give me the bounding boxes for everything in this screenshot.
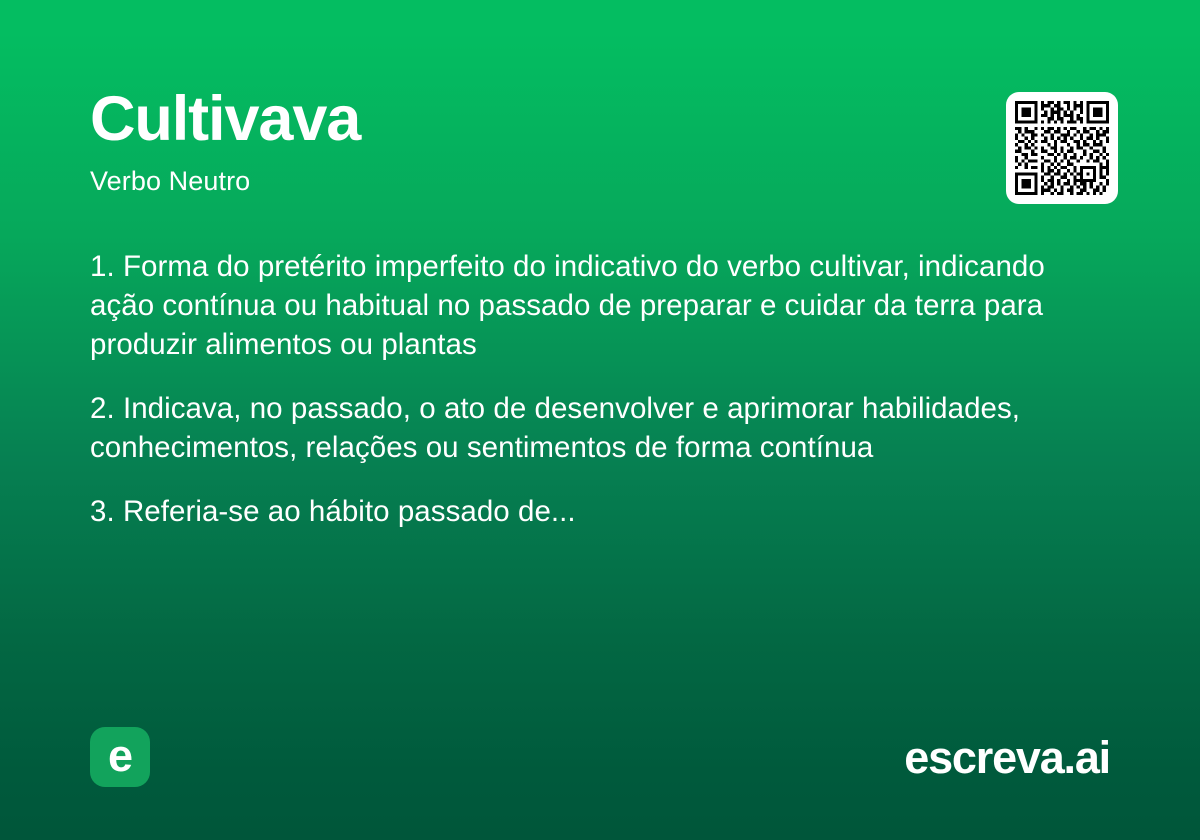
brand-logo-letter: e — [108, 733, 132, 778]
definition-item-3: 3. Referia-se ao hábito passado de... — [90, 493, 1100, 532]
definitions-list: 1. Forma do pretérito imperfeito do indi… — [90, 248, 1100, 532]
brand-wordmark[interactable]: escreva.ai — [904, 735, 1110, 780]
word-class-label: Verbo Neutro — [90, 167, 1110, 197]
definition-item-1: 1. Forma do pretérito imperfeito do indi… — [90, 248, 1100, 365]
qr-code-modules — [1015, 101, 1109, 195]
card-footer: e escreva.ai — [90, 726, 1110, 788]
definition-item-2: 2. Indicava, no passado, o ato de desenv… — [90, 390, 1100, 468]
card-header: Cultivava Verbo Neutro — [90, 88, 1110, 197]
page-title: Cultivava — [90, 88, 1110, 151]
brand-logo-icon[interactable]: e — [90, 727, 150, 787]
definition-card: Cultivava Verbo Neutro — [0, 0, 1200, 840]
qr-code-icon[interactable] — [1006, 92, 1118, 204]
